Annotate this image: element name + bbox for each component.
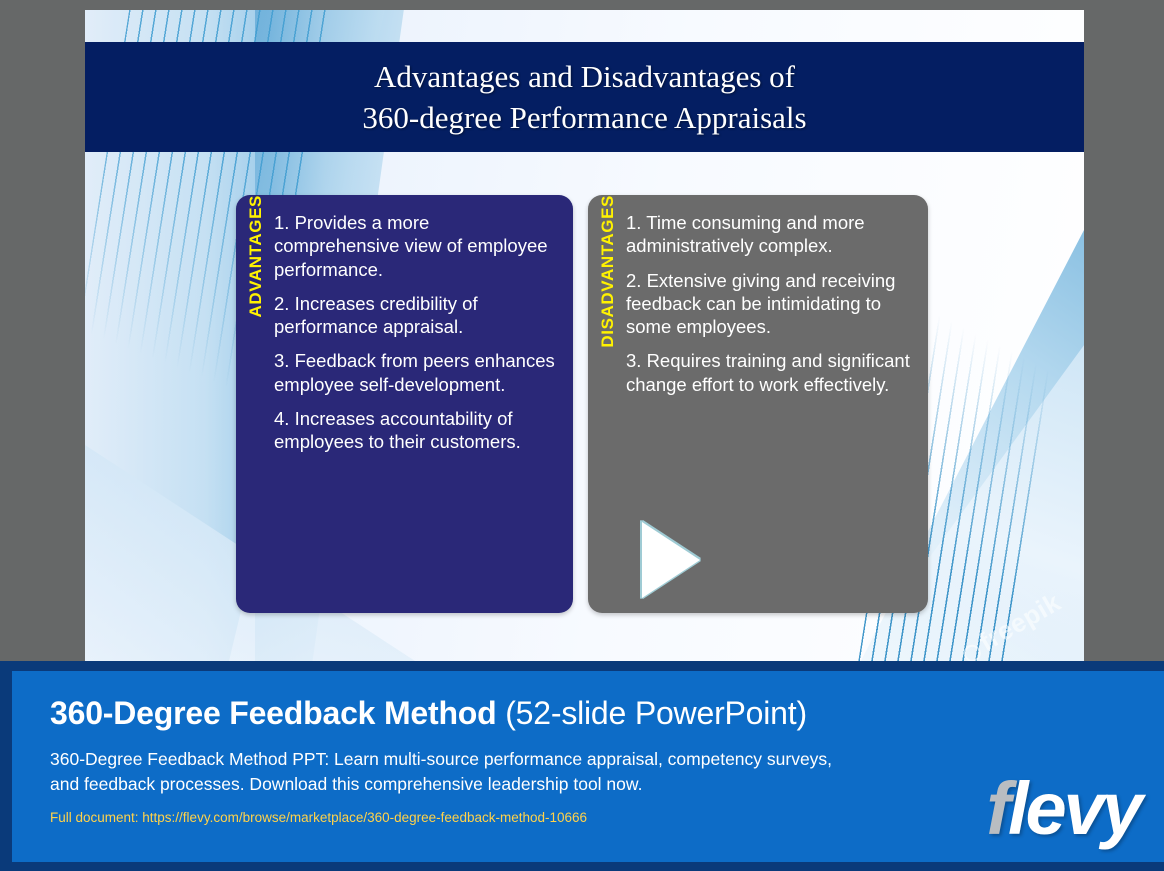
- slide-title-line-1: Advantages and Disadvantages of: [374, 56, 795, 97]
- product-title-main: 360-Degree Feedback Method: [50, 695, 497, 731]
- product-title-sub: (52-slide PowerPoint): [497, 695, 807, 731]
- disadvantages-item: 1. Time consuming and more administrativ…: [626, 211, 914, 258]
- disadvantages-panel-label: DISADVANTAGES: [598, 195, 618, 364]
- advantages-item: 2. Increases credibility of performance …: [274, 292, 559, 339]
- product-title: 360-Degree Feedback Method (52-slide Pow…: [50, 695, 1164, 732]
- product-footer-banner: 360-Degree Feedback Method (52-slide Pow…: [0, 661, 1164, 871]
- product-description: 360-Degree Feedback Method PPT: Learn mu…: [50, 747, 840, 797]
- advantages-panel[interactable]: ADVANTAGES 1. Provides a more comprehens…: [236, 195, 573, 613]
- advantages-panel-label: ADVANTAGES: [246, 195, 266, 334]
- advantages-item: 4. Increases accountability of employees…: [274, 407, 559, 454]
- play-triangle-icon: [642, 522, 700, 598]
- flevy-logo-levy: levy: [1008, 767, 1140, 850]
- advantages-item: 1. Provides a more comprehensive view of…: [274, 211, 559, 281]
- product-footer-inner: 360-Degree Feedback Method (52-slide Pow…: [12, 671, 1164, 862]
- disadvantages-panel[interactable]: DISADVANTAGES 1. Time consuming and more…: [588, 195, 928, 613]
- flevy-logo[interactable]: flevy: [986, 772, 1140, 846]
- flevy-logo-f: f: [986, 767, 1008, 850]
- slide-canvas: freepik Advantages and Disadvantages of …: [85, 10, 1084, 661]
- slide-title-line-2: 360-degree Performance Appraisals: [362, 97, 806, 138]
- advantages-panel-body: 1. Provides a more comprehensive view of…: [268, 195, 573, 613]
- disadvantages-item: 3. Requires training and significant cha…: [626, 349, 914, 396]
- disadvantages-item: 2. Extensive giving and receiving feedba…: [626, 269, 914, 339]
- slide-title-banner: Advantages and Disadvantages of 360-degr…: [85, 42, 1084, 152]
- advantages-item: 3. Feedback from peers enhances employee…: [274, 349, 559, 396]
